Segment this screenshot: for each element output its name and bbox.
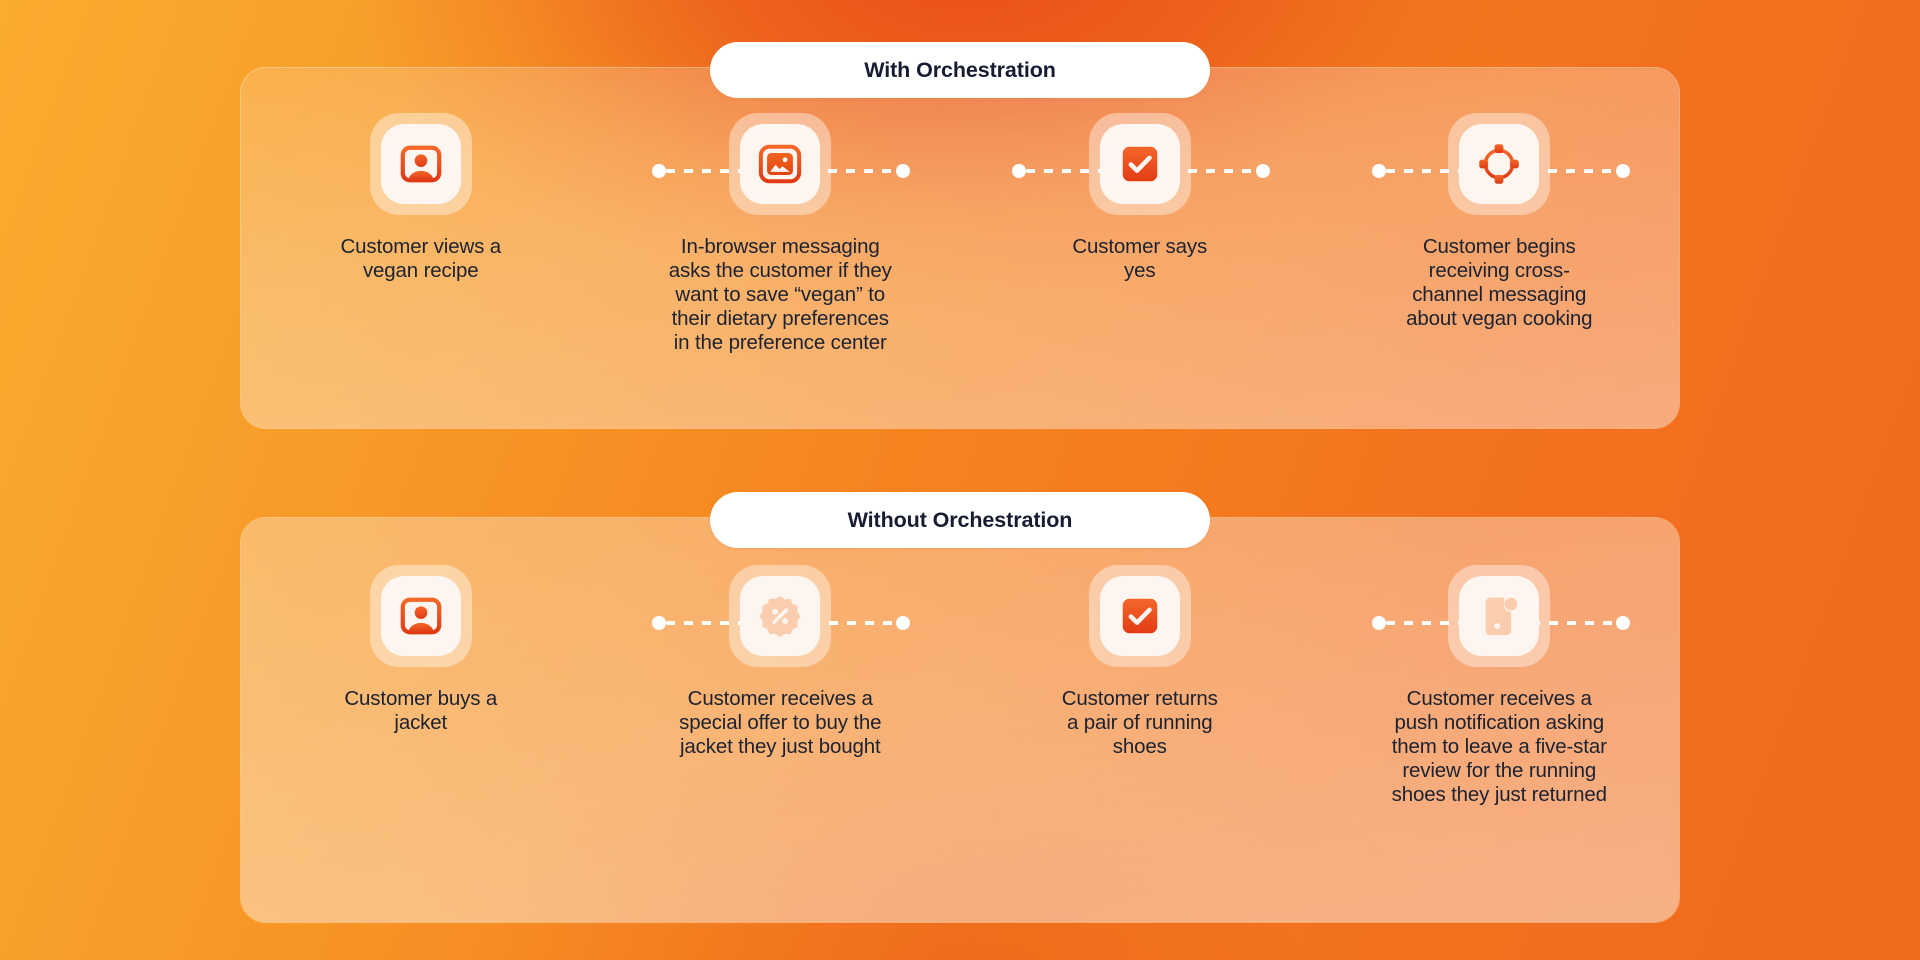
step-icon-tile bbox=[1089, 565, 1191, 667]
panel-without-orchestration: X X bbox=[240, 517, 1680, 923]
person-photo-icon bbox=[398, 141, 444, 187]
step-item: In-browser messaging asks the customer i… bbox=[601, 68, 961, 428]
steps-row-with: Customer views a vegan recipe bbox=[241, 68, 1679, 428]
step-icon-tile-inner bbox=[740, 124, 820, 204]
step-icon-tile-inner bbox=[381, 576, 461, 656]
section-title-label: Without Orchestration bbox=[848, 508, 1073, 533]
step-caption: Customer views a vegan recipe bbox=[296, 235, 546, 283]
step-icon-tile bbox=[1448, 565, 1550, 667]
step-caption: Customer returns a pair of running shoes bbox=[1015, 687, 1265, 759]
person-photo-icon bbox=[398, 593, 444, 639]
step-item: Customer says yes bbox=[960, 68, 1320, 428]
checkmark-icon bbox=[1117, 593, 1163, 639]
step-icon-tile-inner bbox=[381, 124, 461, 204]
step-item: Customer receives a special offer to buy… bbox=[601, 518, 961, 922]
section-title-pill-without: Without Orchestration bbox=[710, 492, 1210, 548]
section-title-pill-with: With Orchestration bbox=[710, 42, 1210, 98]
step-icon-tile bbox=[1448, 113, 1550, 215]
step-caption: In-browser messaging asks the customer i… bbox=[655, 235, 905, 355]
image-message-icon bbox=[757, 141, 803, 187]
step-caption: Customer receives a push notification as… bbox=[1374, 687, 1624, 807]
step-icon-tile-inner bbox=[1459, 576, 1539, 656]
step-icon-tile-inner bbox=[1100, 124, 1180, 204]
step-item: Customer buys a jacket bbox=[241, 518, 601, 922]
step-item: Customer returns a pair of running shoes bbox=[960, 518, 1320, 922]
steps-row-without: Customer buys a jacket bbox=[241, 518, 1679, 922]
infographic-stage: With Orchestration bbox=[0, 0, 1920, 960]
step-caption: Customer says yes bbox=[1015, 235, 1265, 283]
cross-channel-ring-icon bbox=[1476, 141, 1522, 187]
panel-with-orchestration: Customer views a vegan recipe bbox=[240, 67, 1680, 429]
step-icon-tile-inner bbox=[740, 576, 820, 656]
step-caption: Customer receives a special offer to buy… bbox=[655, 687, 905, 759]
step-caption: Customer begins receiving cross- channel… bbox=[1374, 235, 1624, 331]
step-icon-tile bbox=[729, 113, 831, 215]
step-icon-tile bbox=[370, 113, 472, 215]
step-item: Customer begins receiving cross- channel… bbox=[1320, 68, 1680, 428]
discount-badge-icon bbox=[757, 593, 803, 639]
checkmark-icon bbox=[1117, 141, 1163, 187]
section-title-label: With Orchestration bbox=[864, 58, 1056, 83]
step-icon-tile-inner bbox=[1459, 124, 1539, 204]
step-icon-tile bbox=[729, 565, 831, 667]
step-item: Customer receives a push notification as… bbox=[1320, 518, 1680, 922]
step-icon-tile-inner bbox=[1100, 576, 1180, 656]
step-icon-tile bbox=[370, 565, 472, 667]
push-notification-phone-icon bbox=[1476, 593, 1522, 639]
step-caption: Customer buys a jacket bbox=[296, 687, 546, 735]
step-item: Customer views a vegan recipe bbox=[241, 68, 601, 428]
step-icon-tile bbox=[1089, 113, 1191, 215]
